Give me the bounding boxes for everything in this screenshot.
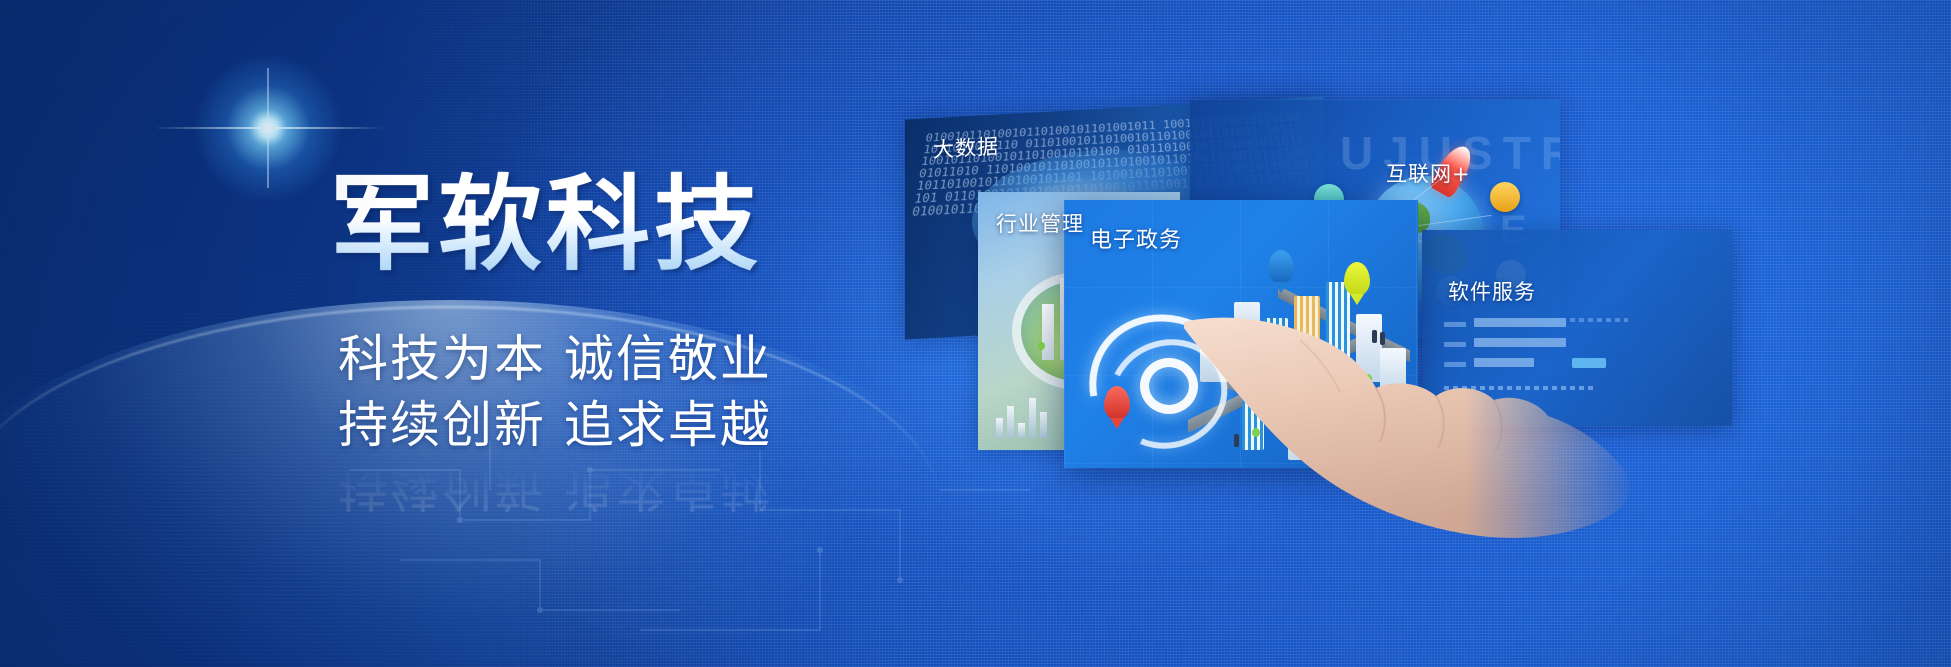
bar-chart-icon xyxy=(996,394,1047,438)
slogan-line-1: 科技为本 诚信敬业 xyxy=(338,334,772,384)
map-pin-yellow-icon xyxy=(1344,262,1370,296)
panel-bigdata-label: 大数据 xyxy=(933,130,999,164)
slogan-reflection: 持续创新 追求卓越 xyxy=(338,462,772,512)
panel-software-service[interactable]: 软件服务 xyxy=(1422,230,1732,426)
panel-software-service-label: 软件服务 xyxy=(1448,276,1536,306)
brand-title: 军软科技 xyxy=(330,172,762,276)
slogan-line-2: 持续创新 追求卓越 xyxy=(338,400,772,450)
swirl-ring-inner-icon xyxy=(1140,358,1198,414)
hero-text-block: 军软科技 军软科技 科技为本 诚信敬业 持续创新 追求卓越 持续创新 追求卓越 xyxy=(0,0,860,667)
panel-internet-plus-label: 互联网+ xyxy=(1386,158,1471,188)
panel-e-government[interactable]: 电子政务 xyxy=(1064,200,1418,468)
panel-industry-management-label: 行业管理 xyxy=(996,208,1084,238)
map-pin-blue-icon xyxy=(1268,250,1294,284)
banner-hero: 军软科技 军软科技 科技为本 诚信敬业 持续创新 追求卓越 持续创新 追求卓越 … xyxy=(0,0,1951,667)
light-burst-icon xyxy=(193,53,343,203)
panel-e-government-label: 电子政务 xyxy=(1090,222,1182,254)
node-gear-icon xyxy=(1490,182,1520,212)
floating-panel-cluster: 01001011010010110100101101001011 1001011… xyxy=(960,0,1951,667)
